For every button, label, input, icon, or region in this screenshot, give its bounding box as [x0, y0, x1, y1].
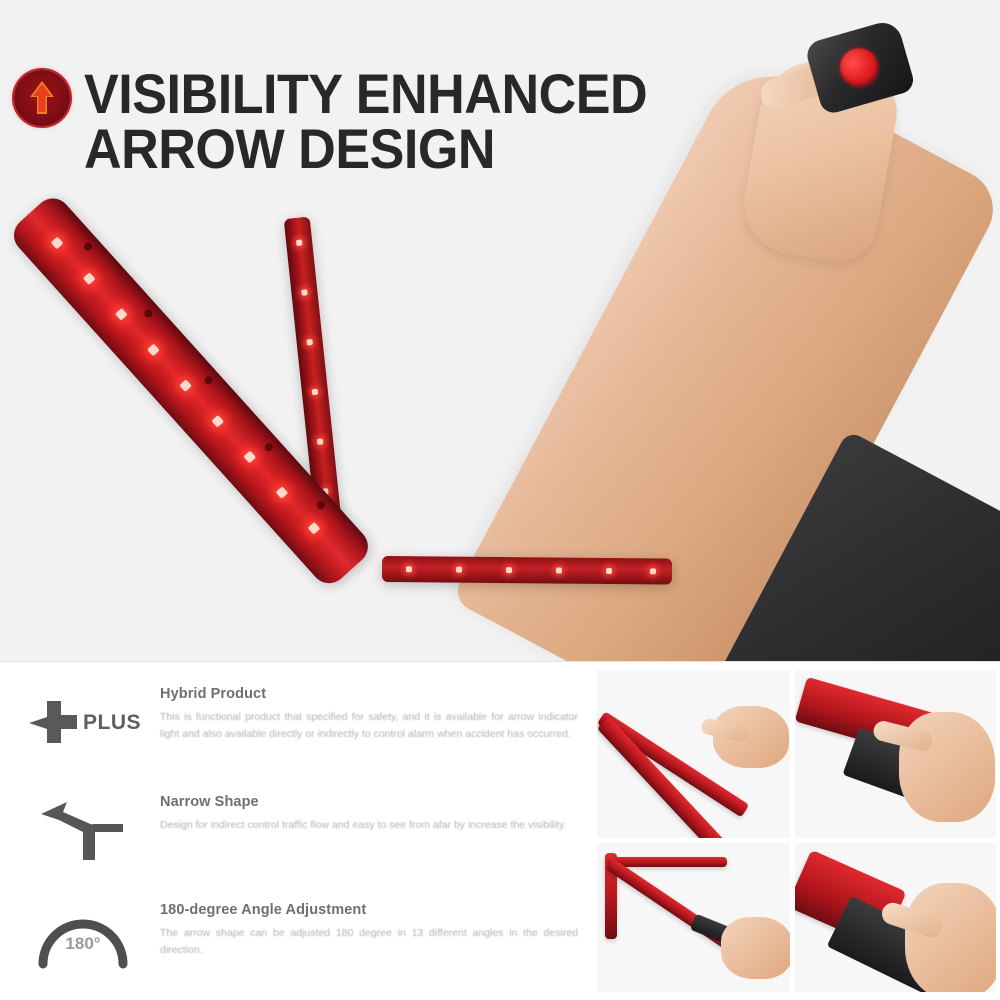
photo-cell-head-closeup [795, 670, 996, 838]
arrow-merge-road-icon [37, 798, 129, 864]
arrow-up-icon [14, 70, 70, 126]
lower-section: PLUS Hybrid Product This is functional p… [0, 662, 1000, 1000]
feature-icon-slot: 180° [18, 896, 148, 982]
feature-item: 180° 180-degree Angle Adjustment The arr… [18, 896, 581, 990]
feature-icon-slot: PLUS [18, 680, 148, 766]
page-title-line-2: ARROW DESIGN [84, 123, 647, 175]
plus-cross-icon [25, 697, 81, 749]
feature-item: PLUS Hybrid Product This is functional p… [18, 680, 581, 774]
power-button-icon [836, 44, 883, 91]
feature-title: Narrow Shape [160, 794, 581, 810]
feature-title: 180-degree Angle Adjustment [160, 902, 581, 918]
feature-description: Design for indirect control traffic flow… [160, 817, 578, 834]
photo-cell-grip-closeup [795, 843, 996, 992]
page-title-line-1: VISIBILITY ENHANCED [84, 68, 647, 120]
handle-end-cap [804, 18, 917, 116]
product-arm-lower [382, 556, 672, 585]
feature-text: 180-degree Angle Adjustment The arrow sh… [160, 896, 581, 959]
feature-description: This is functional product that specifie… [160, 709, 578, 743]
hero-section: VISIBILITY ENHANCED ARROW DESIGN [0, 0, 1000, 662]
feature-text: Hybrid Product This is functional produc… [160, 680, 581, 743]
photo-cell-arrow-shape [597, 843, 790, 992]
hero-titles: VISIBILITY ENHANCED ARROW DESIGN [84, 66, 690, 174]
feature-list: PLUS Hybrid Product This is functional p… [0, 662, 597, 1000]
brand-logo [14, 70, 70, 126]
feature-item: Narrow Shape Design for indirect control… [18, 788, 581, 882]
product-marketing-page: VISIBILITY ENHANCED ARROW DESIGN PLUS [0, 0, 1000, 1000]
hero-heading-group: VISIBILITY ENHANCED ARROW DESIGN [14, 66, 690, 174]
photo-cell-open-arms [597, 670, 790, 838]
plus-icon-label: PLUS [83, 711, 141, 735]
feature-description: The arrow shape can be adjusted 180 degr… [160, 925, 578, 959]
angle-icon-label: 180° [65, 934, 100, 954]
product-photo-grid [597, 662, 1000, 1000]
feature-title: Hybrid Product [160, 686, 581, 702]
feature-icon-slot [18, 788, 148, 874]
feature-text: Narrow Shape Design for indirect control… [160, 788, 581, 834]
